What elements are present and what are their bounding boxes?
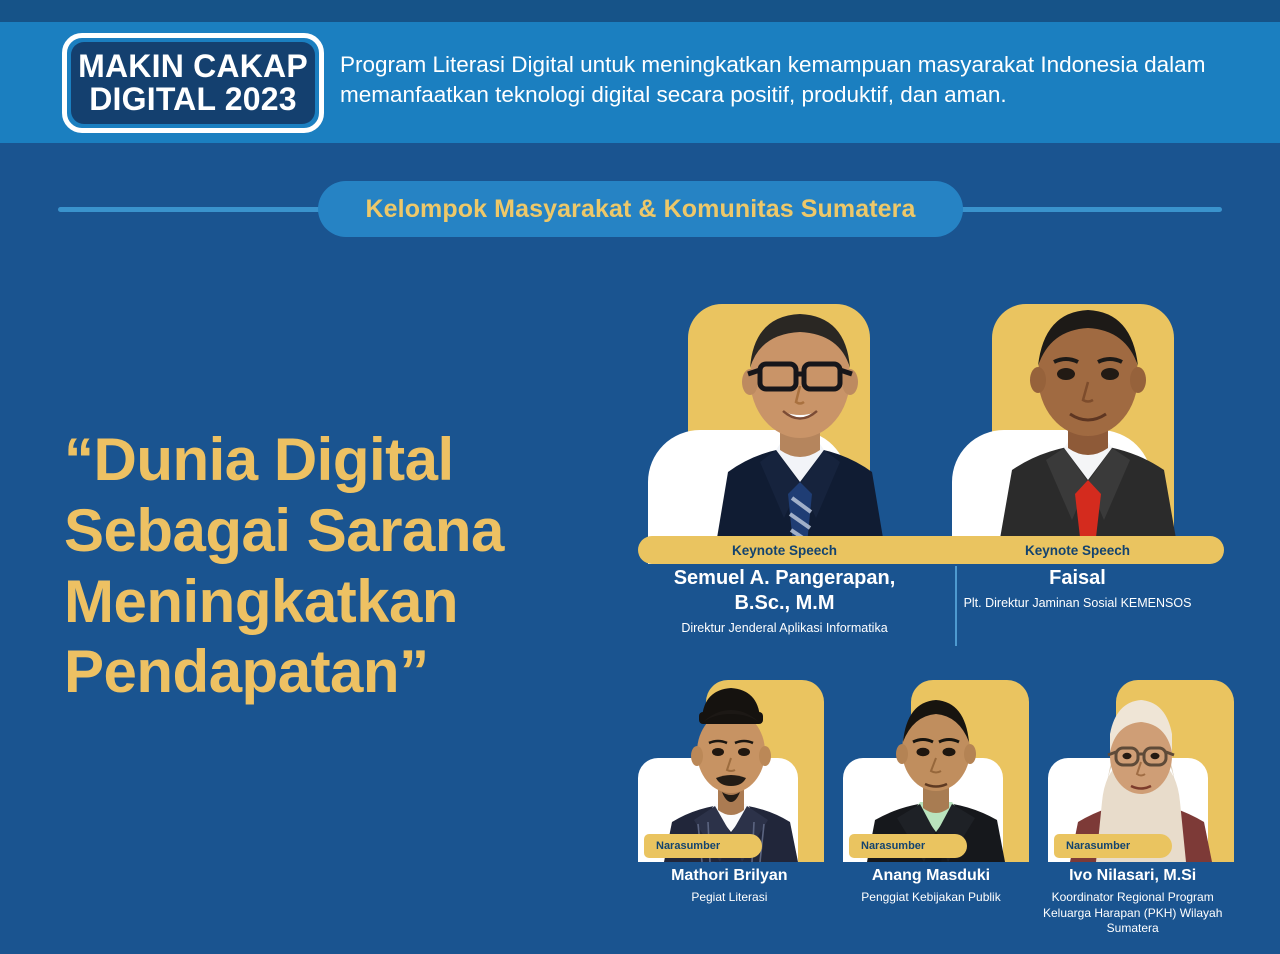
rule-right [948,207,1222,212]
keynote-ribbon-2: Keynote Speech [931,536,1224,564]
speaker-ribbon-3: Narasumber [1054,834,1172,858]
keynote-portrait-stage [638,282,1224,564]
speaker-ribbon-1: Narasumber [644,834,762,858]
keynote-role-1: Direktur Jenderal Aplikasi Informatika [644,621,925,637]
keynote-info-row: Semuel A. Pangerapan, B.Sc., M.M Direktu… [638,566,1224,637]
keynote-info-1: Semuel A. Pangerapan, B.Sc., M.M Direktu… [638,566,931,637]
keynote-info-2: Faisal Plt. Direktur Jaminan Sosial KEME… [931,566,1224,637]
speaker-info-2: Anang Masduki Penggiat Kebijakan Publik [840,866,1023,937]
top-strip [0,0,1280,22]
speaker-name-2: Anang Masduki [840,866,1023,886]
page-title: “Dunia Digital Sebagai Sarana Meningkatk… [64,425,624,708]
speaker-card-3: Narasumber [1048,672,1234,862]
speaker-role-3: Koordinator Regional Program Keluarga Ha… [1041,890,1224,937]
speaker-name-1: Mathori Brilyan [638,866,821,886]
keynote-photo-faisal [968,282,1208,550]
speaker-info-1: Mathori Brilyan Pegiat Literasi [638,866,821,937]
speaker-role-1: Pegiat Literasi [638,890,821,906]
speaker-role-2: Penggiat Kebijakan Publik [840,890,1023,906]
speaker-ribbon-2: Narasumber [849,834,967,858]
speaker-card-1: Narasumber [638,672,824,862]
keynote-role-2: Plt. Direktur Jaminan Sosial KEMENSOS [937,596,1218,612]
keynote-ribbon-1: Keynote Speech [638,536,931,564]
keynote-name-1: Semuel A. Pangerapan, B.Sc., M.M [644,566,925,616]
speaker-info-3: Ivo Nilasari, M.Si Koordinator Regional … [1041,866,1224,937]
poster-canvas: MAKIN CAKAP DIGITAL 2023 Program Literas… [0,0,1280,954]
logo-line-1: MAKIN CAKAP [78,50,308,83]
speaker-name-3: Ivo Nilasari, M.Si [1041,866,1224,886]
header-tagline: Program Literasi Digital untuk meningkat… [340,50,1240,110]
section-pill: Kelompok Masyarakat & Komunitas Sumatera [318,181,963,237]
keynote-ribbon-row: Keynote Speech Keynote Speech [638,536,1224,564]
rule-left [58,207,333,212]
logo-line-2: DIGITAL 2023 [89,83,297,116]
section-pill-label: Kelompok Masyarakat & Komunitas Sumatera [365,195,915,224]
keynote-divider [955,566,957,646]
keynote-name-2: Faisal [937,566,1218,591]
keynote-photo-semuel [680,282,920,550]
speaker-info-row: Mathori Brilyan Pegiat Literasi Anang Ma… [638,866,1224,937]
logo-inner-plate: MAKIN CAKAP DIGITAL 2023 [71,42,315,124]
speaker-card-2: Narasumber [843,672,1029,862]
speaker-portrait-stage: Narasumber [638,672,1224,862]
makin-cakap-digital-logo: MAKIN CAKAP DIGITAL 2023 [62,33,324,133]
